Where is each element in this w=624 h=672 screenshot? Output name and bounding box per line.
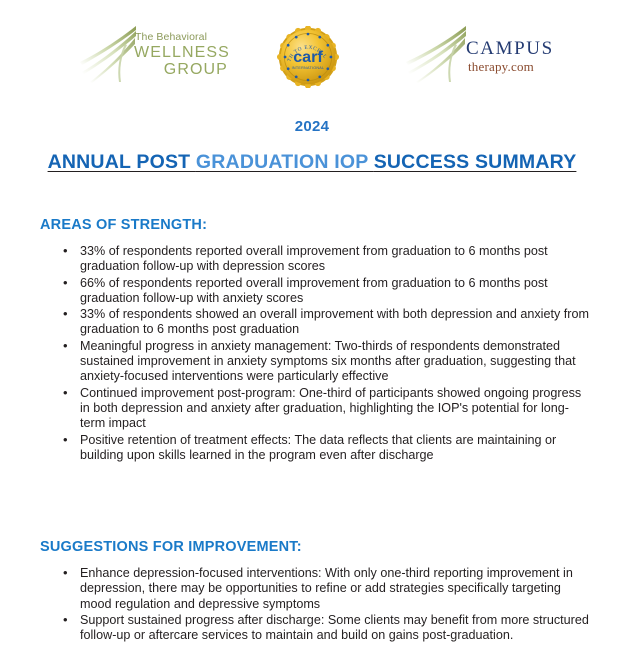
list-item: Enhance depression-focused interventions…	[80, 566, 590, 612]
list-item: 66% of respondents reported overall impr…	[80, 276, 590, 307]
bwg-line-1: The Behavioral	[134, 32, 230, 43]
list-item: Meaningful progress in anxiety managemen…	[80, 339, 590, 385]
swoosh-icon	[404, 22, 470, 84]
bwg-line-3: GROUP	[134, 62, 230, 78]
page-title-part-2: GRADUATION IOP	[196, 151, 374, 173]
section-heading-areas-of-strength: AREAS OF STRENGTH:	[40, 217, 624, 233]
behavioral-wellness-group-logo: The Behavioral WELLNESS GROUP	[78, 22, 230, 84]
bwg-line-2: WELLNESS	[134, 45, 230, 61]
list-item: 33% of respondents reported overall impr…	[80, 244, 590, 275]
carf-accreditation-seal: A PATH TO EXCELLENCE carf INTERNATIONAL	[277, 26, 339, 88]
list-item: Continued improvement post-program: One-…	[80, 386, 590, 432]
svg-text:carf: carf	[293, 48, 323, 66]
svg-text:INTERNATIONAL: INTERNATIONAL	[292, 66, 325, 70]
campus-line-1: CAMPUS	[466, 39, 554, 58]
bwg-wordmark: The Behavioral WELLNESS GROUP	[134, 28, 230, 78]
areas-of-strength-list: 33% of respondents reported overall impr…	[0, 244, 624, 463]
campus-wordmark: CAMPUS therapy.com	[466, 33, 554, 73]
section-heading-suggestions-for-improvement: SUGGESTIONS FOR IMPROVEMENT:	[40, 539, 624, 555]
list-item: 33% of respondents showed an overall imp…	[80, 307, 590, 338]
page-title: ANNUAL POST GRADUATION IOP SUCCESS SUMMA…	[0, 151, 624, 174]
report-year: 2024	[0, 118, 624, 135]
list-item: Positive retention of treatment effects:…	[80, 433, 590, 464]
document-title-block: 2024 ANNUAL POST GRADUATION IOP SUCCESS …	[0, 118, 624, 174]
page-title-part-3: SUCCESS SUMMARY	[374, 151, 577, 173]
swoosh-icon	[78, 22, 140, 84]
list-item: Support sustained progress after dischar…	[80, 613, 590, 644]
campus-therapy-logo: CAMPUS therapy.com	[404, 22, 554, 84]
page-title-part-1: ANNUAL POST	[48, 151, 196, 173]
document-body: AREAS OF STRENGTH: 33% of respondents re…	[0, 217, 624, 644]
campus-line-2: therapy.com	[466, 60, 554, 73]
suggestions-for-improvement-list: Enhance depression-focused interventions…	[0, 566, 624, 643]
carf-seal-icon: A PATH TO EXCELLENCE carf INTERNATIONAL	[277, 26, 339, 88]
logo-header-band: The Behavioral WELLNESS GROUP	[0, 0, 624, 102]
